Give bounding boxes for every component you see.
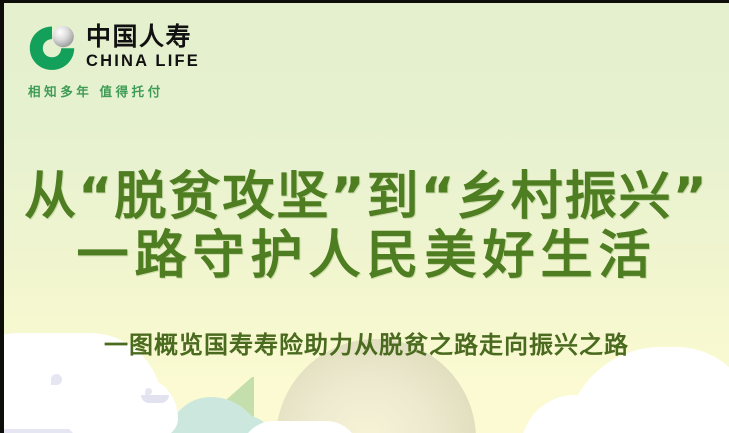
left-cloud-shadow-secondary-shape [76, 417, 172, 433]
green-triangle-hill-shape [182, 377, 252, 433]
green-hill-edge-shape [252, 377, 254, 433]
headline-line-2: 一路守护人民美好生活 [4, 230, 729, 283]
small-cloud-dot-shape [145, 388, 152, 395]
left-cloud-shadow-shape [4, 403, 174, 433]
headline-line-1: 从“脱贫攻坚”到“乡村振兴” [4, 171, 729, 224]
china-life-ring-sphere-logo-icon [26, 22, 78, 72]
poster-canvas: 中国人寿 CHINA LIFE 相知多年 值得托付 从“脱贫攻坚”到“乡村振兴”… [4, 3, 729, 433]
mint-hill-shape [168, 397, 264, 433]
left-cloud-nub-shape [51, 374, 62, 385]
brand-logo-row: 中国人寿 CHINA LIFE [26, 22, 200, 72]
left-cloud-lobe-shape [66, 375, 178, 433]
brand-name-en: CHINA LIFE [86, 53, 200, 70]
headline-block: 从“脱贫攻坚”到“乡村振兴” 一路守护人民美好生活 [4, 171, 729, 283]
center-cloud-shape [240, 421, 360, 433]
brand-tagline: 相知多年 值得托付 [28, 81, 200, 100]
right-cloud-secondary-shape [521, 395, 671, 433]
brand-logo-block: 中国人寿 CHINA LIFE 相知多年 值得托付 [26, 22, 200, 100]
subtitle-text: 一图概览国寿寿险助力从脱贫之路走向振兴之路 [4, 325, 729, 360]
small-cloud-shape [141, 383, 169, 403]
small-cloud-shadow-shape [141, 395, 169, 403]
mint-hill-secondary-shape [216, 415, 276, 433]
brand-name-cn: 中国人寿 [86, 25, 200, 50]
brand-name-group: 中国人寿 CHINA LIFE [86, 25, 200, 70]
poster-root: 中国人寿 CHINA LIFE 相知多年 值得托付 从“脱贫攻坚”到“乡村振兴”… [0, 0, 729, 433]
